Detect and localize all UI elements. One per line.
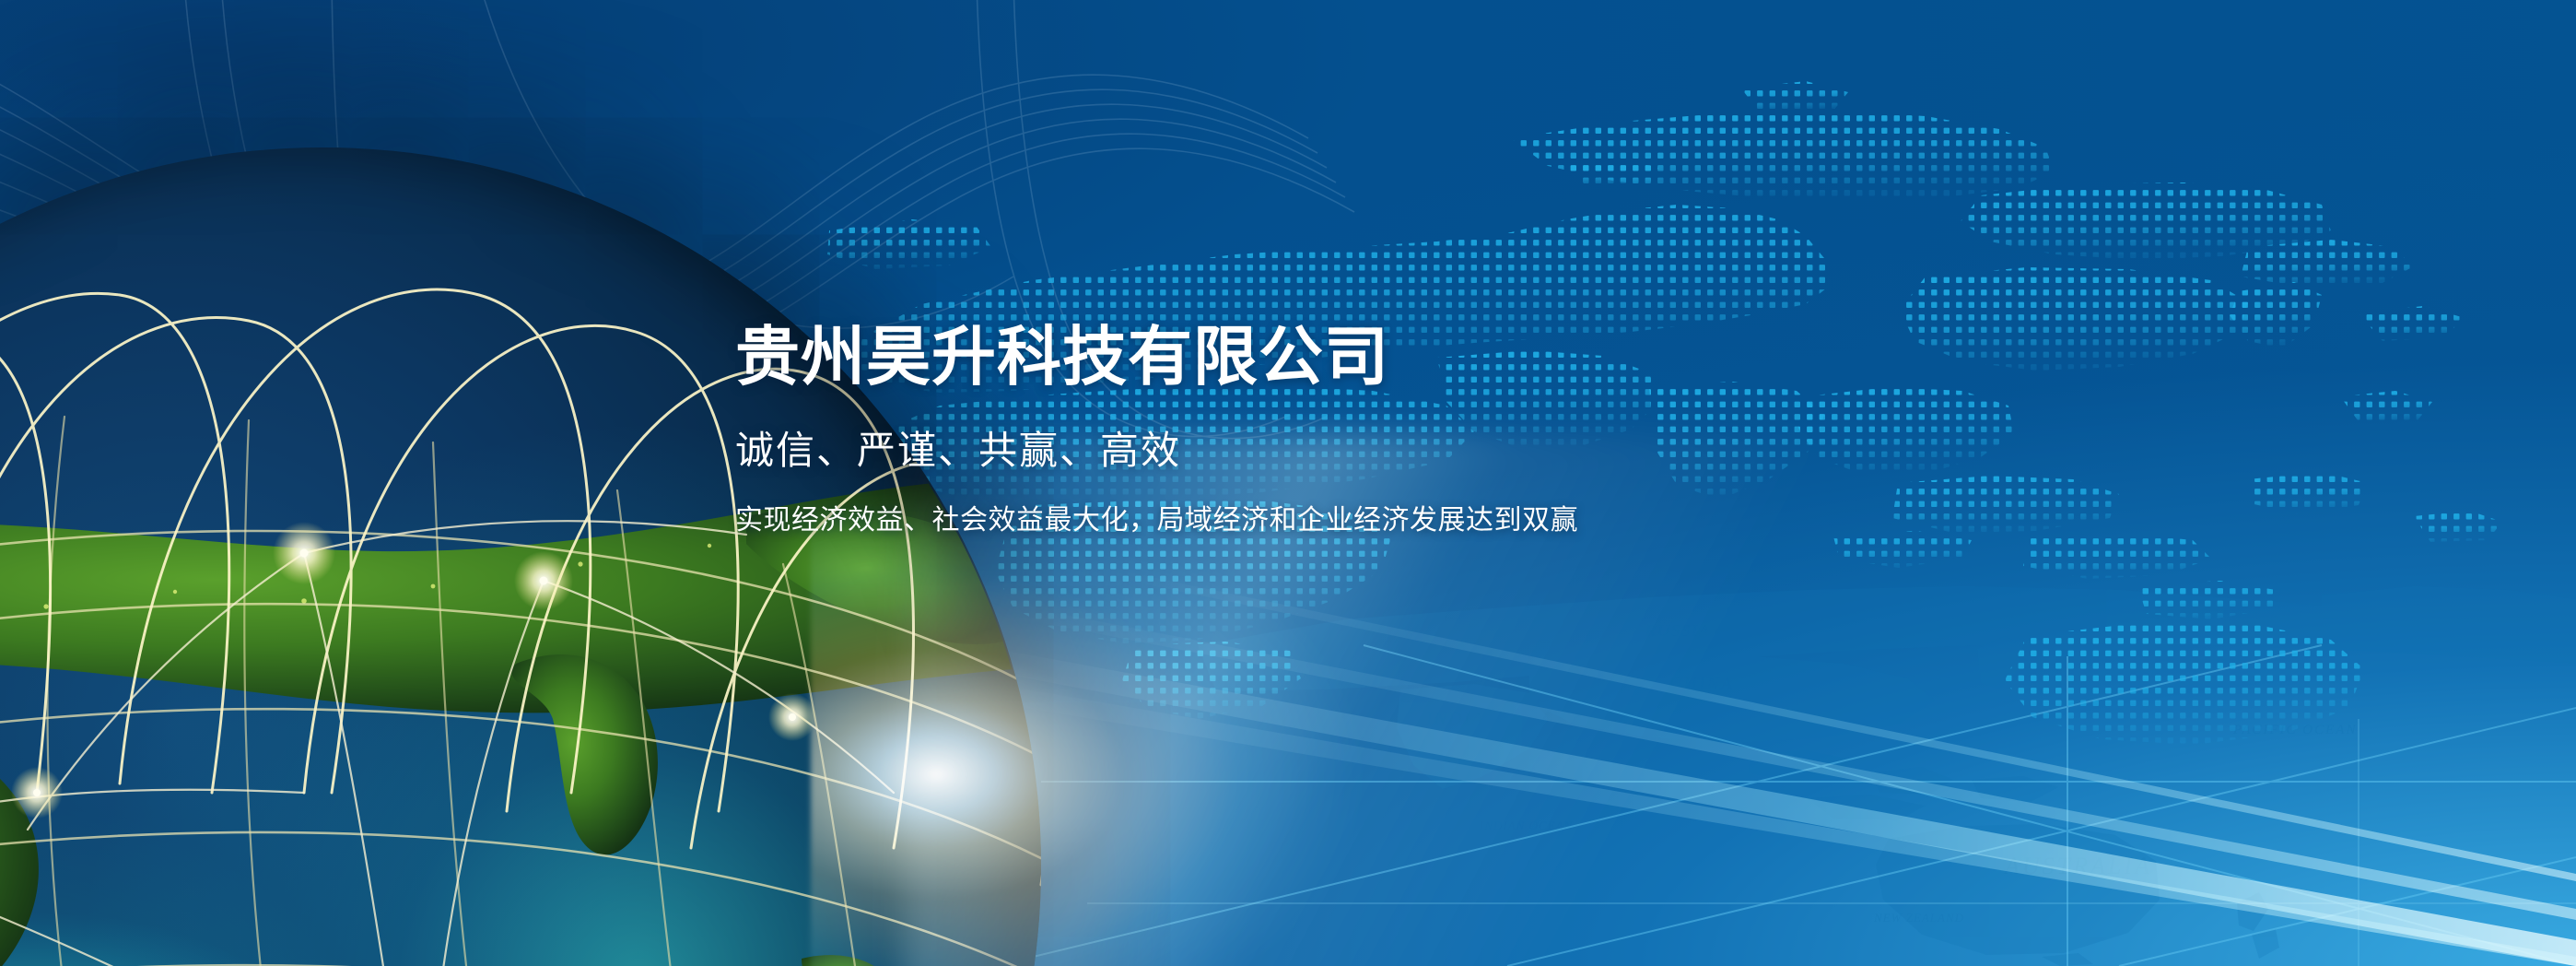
svg-text:PACIFIC OCEAN: PACIFIC OCEAN	[2232, 723, 2357, 737]
company-name-heading: 贵州昊升科技有限公司	[735, 324, 1578, 389]
slogan-text: 诚信、严谨、共赢、高效	[735, 431, 1578, 470]
tagline-text: 实现经济效益、社会效益最大化，局域经济和企业经济发展达到双赢	[735, 507, 1578, 535]
banner-text-block: 贵州昊升科技有限公司 诚信、严谨、共赢、高效 实现经济效益、社会效益最大化，局域…	[735, 324, 1578, 535]
hero-banner: AUSTRALIA INDIA CHINA RUSSIA PACIFIC OCE…	[0, 0, 2576, 966]
